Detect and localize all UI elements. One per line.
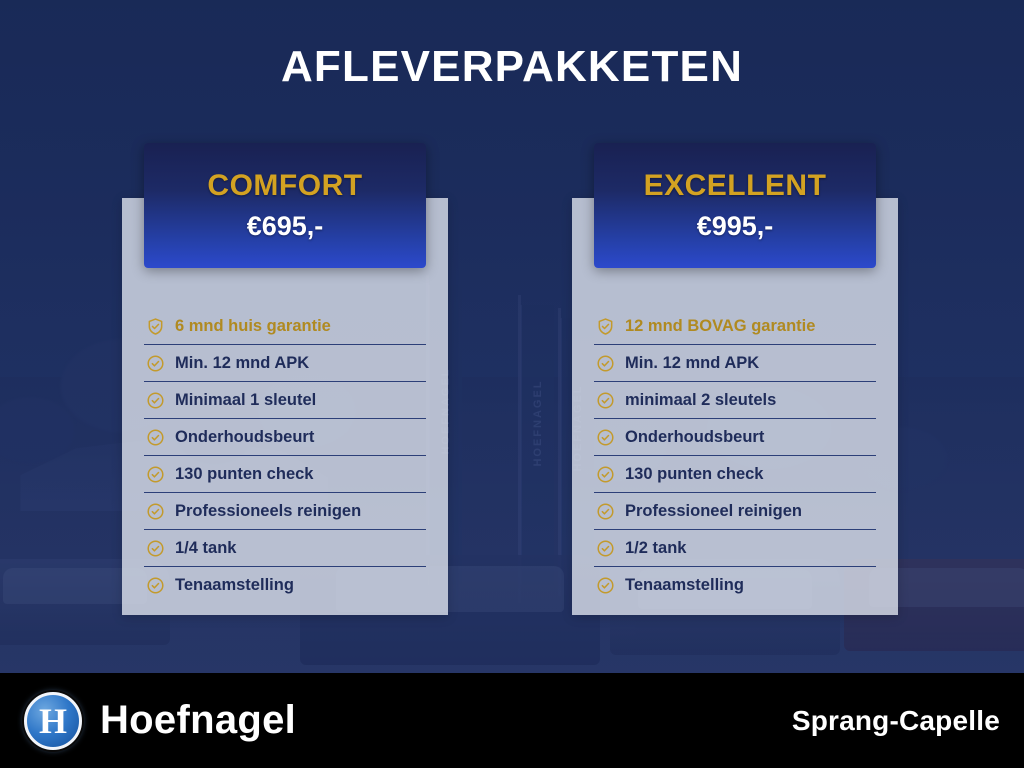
circle-check-icon (146, 428, 165, 447)
circle-check-icon (596, 465, 615, 484)
brand-name: Hoefnagel (100, 698, 296, 743)
feature-item: Onderhoudsbeurt (594, 419, 876, 456)
circle-check-icon (596, 391, 615, 410)
feature-label: 12 mnd BOVAG garantie (625, 317, 815, 336)
feature-item: Onderhoudsbeurt (144, 419, 426, 456)
feature-item: minimaal 2 sleutels (594, 382, 876, 419)
package-price: €995,- (697, 211, 774, 242)
feature-label: Professioneel reinigen (625, 502, 802, 521)
circle-check-icon (596, 354, 615, 373)
package-header: EXCELLENT €995,- (594, 143, 876, 268)
feature-label: Min. 12 mnd APK (625, 354, 759, 373)
feature-label: Onderhoudsbeurt (175, 428, 314, 447)
feature-list: 12 mnd BOVAG garantieMin. 12 mnd APKmini… (594, 308, 876, 604)
feature-label: Onderhoudsbeurt (625, 428, 764, 447)
package-card-excellent: EXCELLENT €995,- 12 mnd BOVAG garantieMi… (572, 198, 898, 615)
feature-label: minimaal 2 sleutels (625, 391, 776, 410)
feature-item: Professioneel reinigen (594, 493, 876, 530)
circle-check-icon (146, 465, 165, 484)
footer-bar: H Hoefnagel Sprang-Capelle (0, 673, 1024, 768)
brand-block: H Hoefnagel (24, 692, 296, 750)
shield-check-icon (146, 317, 165, 336)
circle-check-icon (146, 354, 165, 373)
feature-item: 1/4 tank (144, 530, 426, 567)
package-header: COMFORT €695,- (144, 143, 426, 268)
hoefnagel-logo-icon: H (24, 692, 82, 750)
feature-label: 130 punten check (175, 465, 313, 484)
circle-check-icon (596, 428, 615, 447)
circle-check-icon (146, 391, 165, 410)
circle-check-icon (146, 539, 165, 558)
feature-item: Minimaal 1 sleutel (144, 382, 426, 419)
shield-check-icon (596, 317, 615, 336)
feature-list: 6 mnd huis garantieMin. 12 mnd APKMinima… (144, 308, 426, 604)
package-price: €695,- (247, 211, 324, 242)
feature-item: 6 mnd huis garantie (144, 308, 426, 345)
logo-monogram: H (39, 703, 67, 739)
location-label: Sprang-Capelle (792, 705, 1000, 737)
feature-label: 1/4 tank (175, 539, 236, 558)
circle-check-icon (596, 502, 615, 521)
feature-item: 130 punten check (594, 456, 876, 493)
feature-label: Tenaamstelling (175, 576, 294, 595)
feature-item: 1/2 tank (594, 530, 876, 567)
feature-label: Tenaamstelling (625, 576, 744, 595)
feature-label: 1/2 tank (625, 539, 686, 558)
feature-item: Min. 12 mnd APK (594, 345, 876, 382)
feature-item: 130 punten check (144, 456, 426, 493)
circle-check-icon (146, 576, 165, 595)
feature-item: Min. 12 mnd APK (144, 345, 426, 382)
package-name: COMFORT (207, 169, 362, 203)
feature-item: Professioneels reinigen (144, 493, 426, 530)
circle-check-icon (596, 539, 615, 558)
feature-item: Tenaamstelling (144, 567, 426, 604)
circle-check-icon (596, 576, 615, 595)
feature-item: 12 mnd BOVAG garantie (594, 308, 876, 345)
feature-item: Tenaamstelling (594, 567, 876, 604)
page-title: AFLEVERPAKKETEN (0, 42, 1024, 92)
package-card-comfort: COMFORT €695,- 6 mnd huis garantieMin. 1… (122, 198, 448, 615)
feature-label: 6 mnd huis garantie (175, 317, 331, 336)
package-name: EXCELLENT (644, 169, 827, 203)
feature-label: Min. 12 mnd APK (175, 354, 309, 373)
feature-label: 130 punten check (625, 465, 763, 484)
feature-label: Professioneels reinigen (175, 502, 361, 521)
feature-label: Minimaal 1 sleutel (175, 391, 316, 410)
circle-check-icon (146, 502, 165, 521)
